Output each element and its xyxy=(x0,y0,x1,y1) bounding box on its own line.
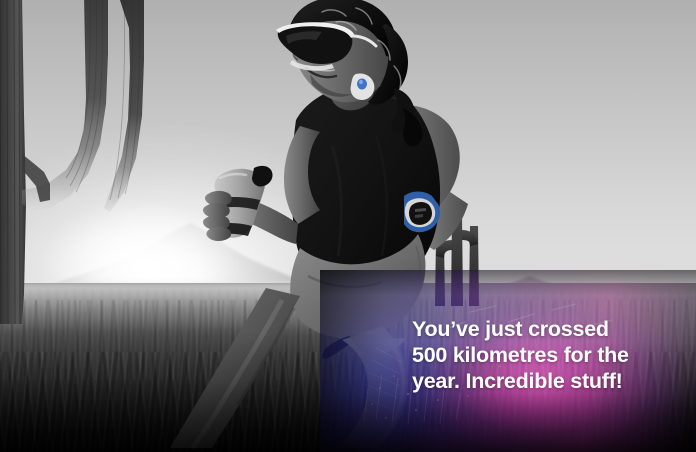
message-line-2: 500 kilometres for the xyxy=(412,342,682,368)
message-line-1: You’ve just crossed xyxy=(412,316,682,342)
saguaro-cactus-left xyxy=(0,0,152,324)
message-line-3: year. Incredible stuff! xyxy=(412,368,682,394)
achievement-message: You’ve just crossed 500 kilometres for t… xyxy=(412,316,682,394)
achievement-banner: You’ve just crossed 500 kilometres for t… xyxy=(0,0,696,452)
